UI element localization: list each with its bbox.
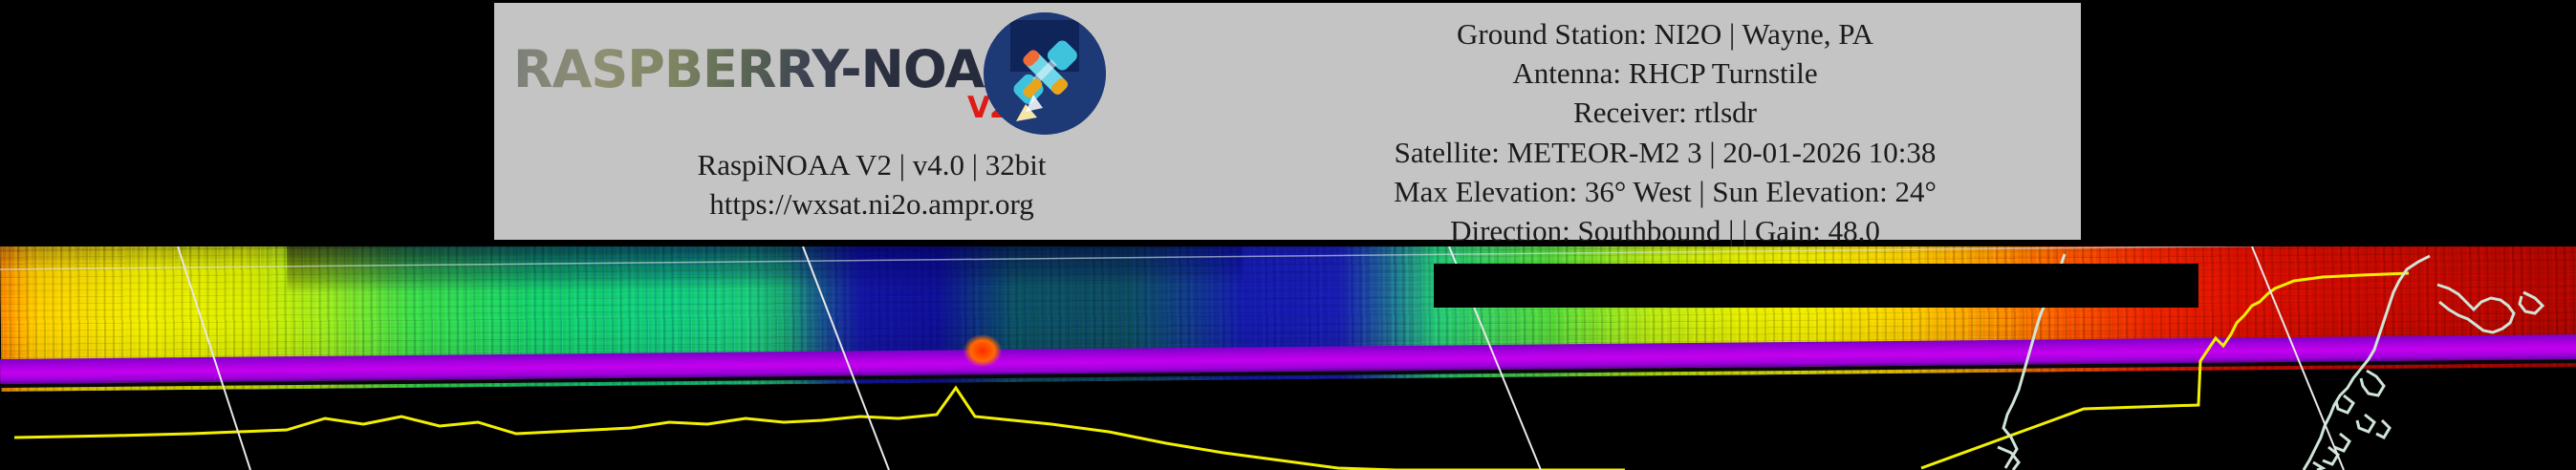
thermal-hotspot <box>963 334 1002 367</box>
data-dropout-rectangle <box>1434 264 2198 308</box>
receiver-line: Receiver: rtlsdr <box>1573 93 1757 132</box>
software-info-block: RaspiNOAA V2 | v4.0 | 32bit https://wxsa… <box>494 146 1249 224</box>
elevation-line: Max Elevation: 36° West | Sun Elevation:… <box>1394 172 1937 211</box>
ground-station-line: Ground Station: NI2O | Wayne, PA <box>1457 14 1873 53</box>
raspberry-noaa-wordmark: RASPBERRY-NOAA <box>513 39 1023 99</box>
branding-row: RASPBERRY-NOAA V2 <box>494 3 1249 144</box>
software-version-line: RaspiNOAA V2 | v4.0 | 32bit <box>494 146 1249 185</box>
antenna-line: Antenna: RHCP Turnstile <box>1512 53 1817 93</box>
direction-gain-line: Direction: Southbound | | Gain: 48.0 <box>1450 211 1880 250</box>
pass-image-page: RASPBERRY-NOAA V2 <box>0 0 2576 470</box>
header-panel: RASPBERRY-NOAA V2 <box>494 3 2081 240</box>
satellite-image-strip <box>0 246 2576 470</box>
header-left-column: RASPBERRY-NOAA V2 <box>494 3 1249 240</box>
satellite-line: Satellite: METEOR-M2 3 | 20-01-2026 10:3… <box>1395 133 1937 172</box>
satellite-icon <box>984 12 1106 135</box>
station-url-line[interactable]: https://wxsat.ni2o.ampr.org <box>494 185 1249 224</box>
pass-metadata-block: Ground Station: NI2O | Wayne, PA Antenna… <box>1249 3 2081 240</box>
